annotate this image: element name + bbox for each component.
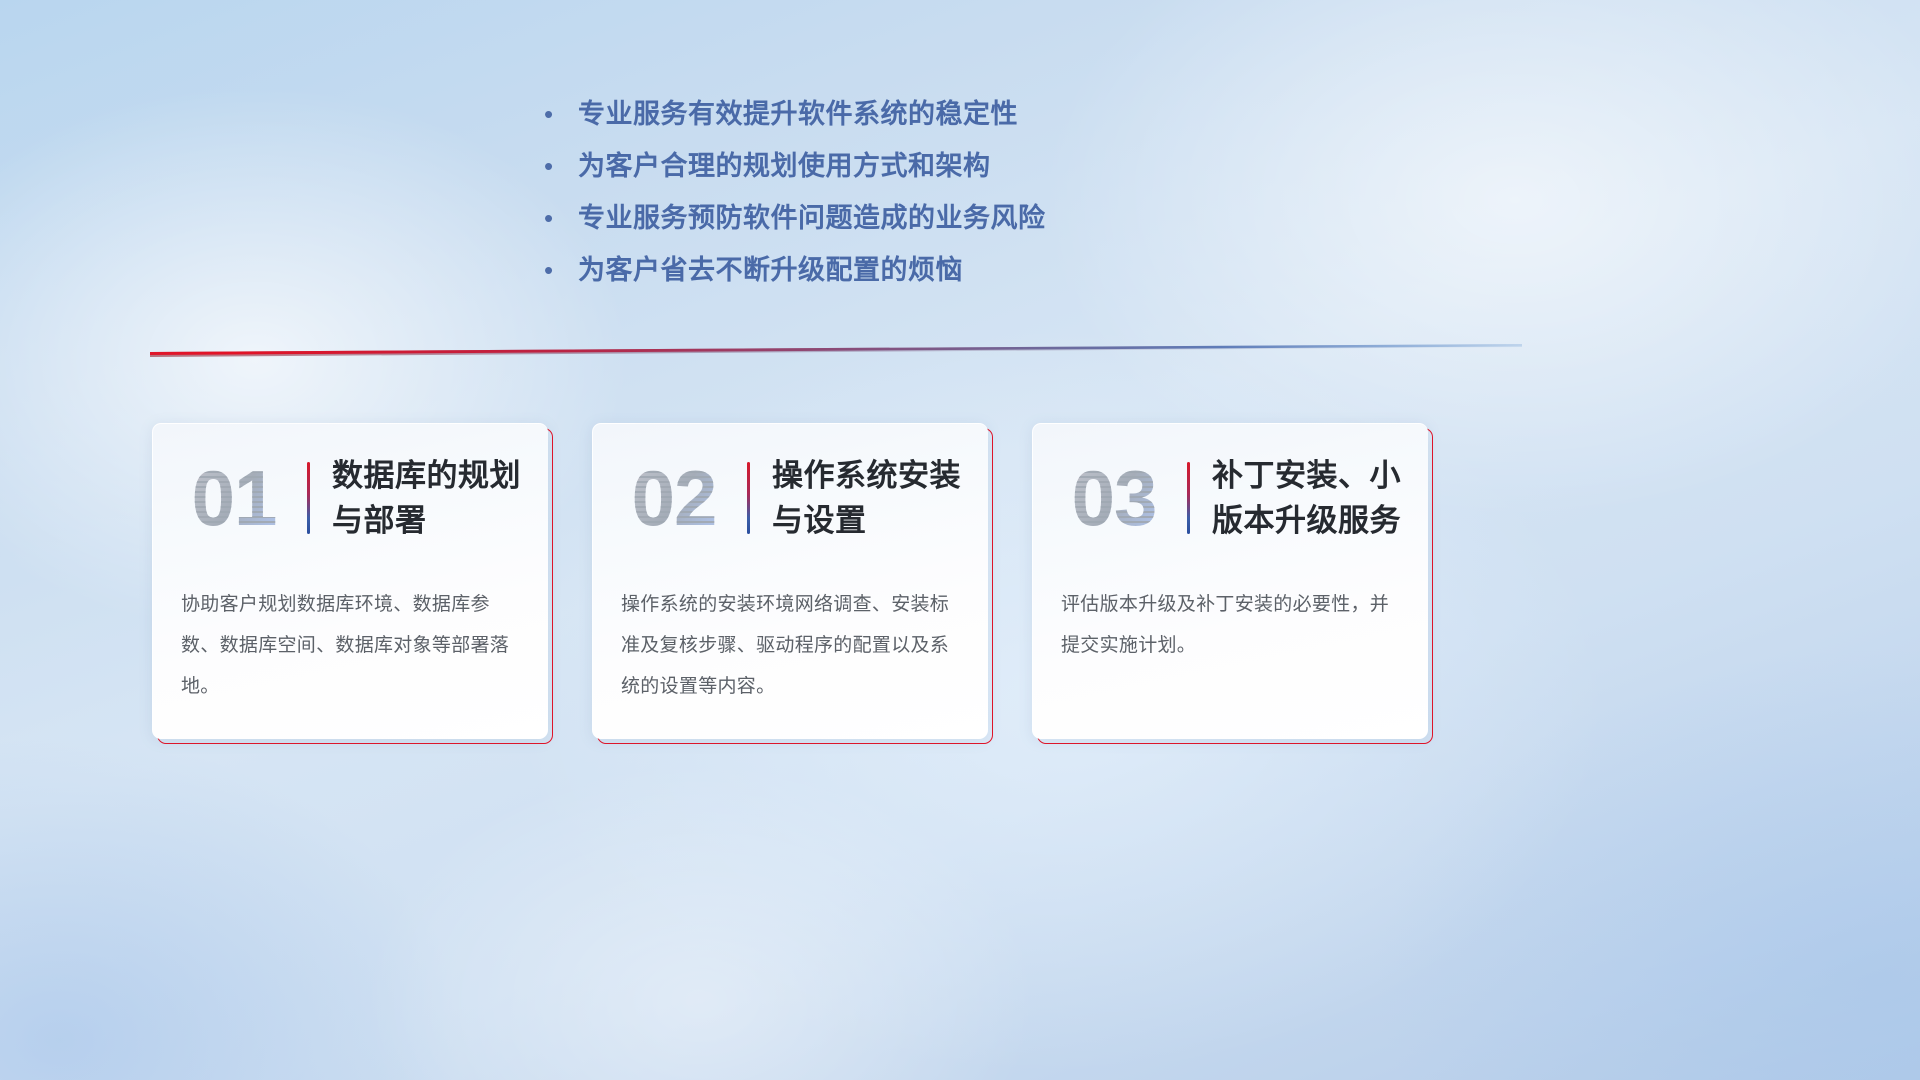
- list-item: • 专业服务预防软件问题造成的业务风险: [540, 192, 1300, 244]
- list-item: • 为客户合理的规划使用方式和架构: [540, 140, 1300, 192]
- card-title: 操作系统安装与设置: [772, 453, 988, 543]
- card-title: 补丁安装、小版本升级服务: [1212, 453, 1428, 543]
- card-body-text: 评估版本升级及补丁安装的必要性，并提交实施计划。: [1061, 584, 1401, 666]
- service-card[interactable]: 02 操作系统安装与设置 操作系统的安装环境网络调查、安装标准及复核步骤、驱动程…: [592, 423, 988, 739]
- card-body-text: 操作系统的安装环境网络调查、安装标准及复核步骤、驱动程序的配置以及系统的设置等内…: [621, 584, 961, 707]
- card-accent-bar-icon: [747, 462, 750, 534]
- card-title: 数据库的规划与部署: [332, 453, 548, 543]
- card-header: 01 数据库的规划与部署: [153, 442, 548, 554]
- bullet-dot-icon: •: [540, 140, 578, 192]
- card-number: 03: [1055, 446, 1173, 550]
- bullet-text: 专业服务有效提升软件系统的稳定性: [578, 88, 1018, 140]
- bullet-text: 专业服务预防软件问题造成的业务风险: [578, 192, 1046, 244]
- slide-canvas: • 专业服务有效提升软件系统的稳定性 • 为客户合理的规划使用方式和架构 • 专…: [0, 0, 1920, 1080]
- card-surface: 02 操作系统安装与设置 操作系统的安装环境网络调查、安装标准及复核步骤、驱动程…: [592, 423, 988, 739]
- card-accent-bar-icon: [307, 462, 310, 534]
- bullet-dot-icon: •: [540, 244, 578, 296]
- service-card[interactable]: 03 补丁安装、小版本升级服务 评估版本升级及补丁安装的必要性，并提交实施计划。: [1032, 423, 1428, 739]
- card-surface: 01 数据库的规划与部署 协助客户规划数据库环境、数据库参数、数据库空间、数据库…: [152, 423, 548, 739]
- card-number: 02: [615, 446, 733, 550]
- card-header: 03 补丁安装、小版本升级服务: [1033, 442, 1428, 554]
- card-surface: 03 补丁安装、小版本升级服务 评估版本升级及补丁安装的必要性，并提交实施计划。: [1032, 423, 1428, 739]
- card-body-text: 协助客户规划数据库环境、数据库参数、数据库空间、数据库对象等部署落地。: [181, 584, 521, 707]
- list-item: • 为客户省去不断升级配置的烦恼: [540, 244, 1300, 296]
- section-divider: [150, 336, 1522, 358]
- service-card-row: 01 数据库的规划与部署 协助客户规划数据库环境、数据库参数、数据库空间、数据库…: [152, 423, 1428, 739]
- service-card[interactable]: 01 数据库的规划与部署 协助客户规划数据库环境、数据库参数、数据库空间、数据库…: [152, 423, 548, 739]
- bullet-text: 为客户合理的规划使用方式和架构: [578, 140, 991, 192]
- bullet-dot-icon: •: [540, 88, 578, 140]
- divider-graphic: [150, 336, 1522, 358]
- bullet-dot-icon: •: [540, 192, 578, 244]
- card-number: 01: [175, 446, 293, 550]
- card-header: 02 操作系统安装与设置: [593, 442, 988, 554]
- benefits-bullet-list: • 专业服务有效提升软件系统的稳定性 • 为客户合理的规划使用方式和架构 • 专…: [540, 88, 1300, 296]
- card-accent-bar-icon: [1187, 462, 1190, 534]
- bullet-text: 为客户省去不断升级配置的烦恼: [578, 244, 963, 296]
- list-item: • 专业服务有效提升软件系统的稳定性: [540, 88, 1300, 140]
